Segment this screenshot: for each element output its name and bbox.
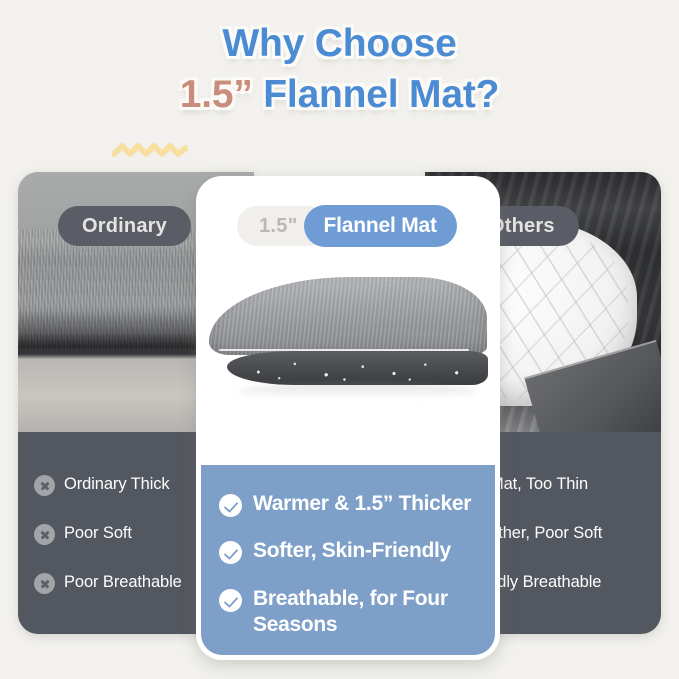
check-circle-icon bbox=[219, 494, 242, 517]
mat-reflection bbox=[239, 383, 478, 399]
feature-label: Poor Soft bbox=[64, 523, 132, 543]
mat-nonslip-base bbox=[227, 351, 488, 385]
flannel-mat-photo: 1.5" Flannel Mat bbox=[201, 181, 495, 465]
flannel-mat-feature-list: Warmer & 1.5” Thicker Softer, Skin-Frien… bbox=[201, 465, 495, 655]
feature-label: Softer, Skin-Friendly bbox=[253, 538, 451, 564]
badge-ordinary: Ordinary bbox=[58, 206, 191, 246]
list-item: Warmer & 1.5” Thicker bbox=[201, 491, 495, 517]
feature-label: Ordinary Thick bbox=[64, 474, 170, 494]
squiggle-decoration bbox=[112, 140, 188, 162]
title-line-2-rest: Flannel Mat? bbox=[253, 73, 500, 116]
x-circle-icon bbox=[34, 524, 55, 545]
badge-flannel-mat: 1.5" Flannel Mat bbox=[237, 205, 457, 247]
check-circle-icon bbox=[219, 541, 242, 564]
check-circle-icon bbox=[219, 589, 242, 612]
badge-name-label: Flannel Mat bbox=[304, 205, 457, 247]
thick-flannel-mat-image bbox=[209, 277, 487, 389]
mat-plush-top bbox=[209, 277, 487, 355]
feature-label: Warmer & 1.5” Thicker bbox=[253, 491, 471, 517]
x-circle-icon bbox=[34, 475, 55, 496]
feature-label: Poor Breathable bbox=[64, 572, 182, 592]
page-title: Why Choose 1.5” Flannel Mat? bbox=[0, 18, 679, 121]
feature-label: Breathable, for Four Seasons bbox=[253, 586, 479, 639]
column-flannel-mat: 1.5" Flannel Mat Warmer & 1.5” Thicker S… bbox=[196, 176, 500, 660]
list-item: Softer, Skin-Friendly bbox=[201, 538, 495, 564]
x-circle-icon bbox=[34, 573, 55, 594]
title-size-accent: 1.5” bbox=[180, 73, 253, 116]
title-line-2: 1.5” Flannel Mat? bbox=[0, 69, 679, 120]
title-line-1: Why Choose bbox=[0, 18, 679, 69]
list-item: Breathable, for Four Seasons bbox=[201, 586, 495, 639]
